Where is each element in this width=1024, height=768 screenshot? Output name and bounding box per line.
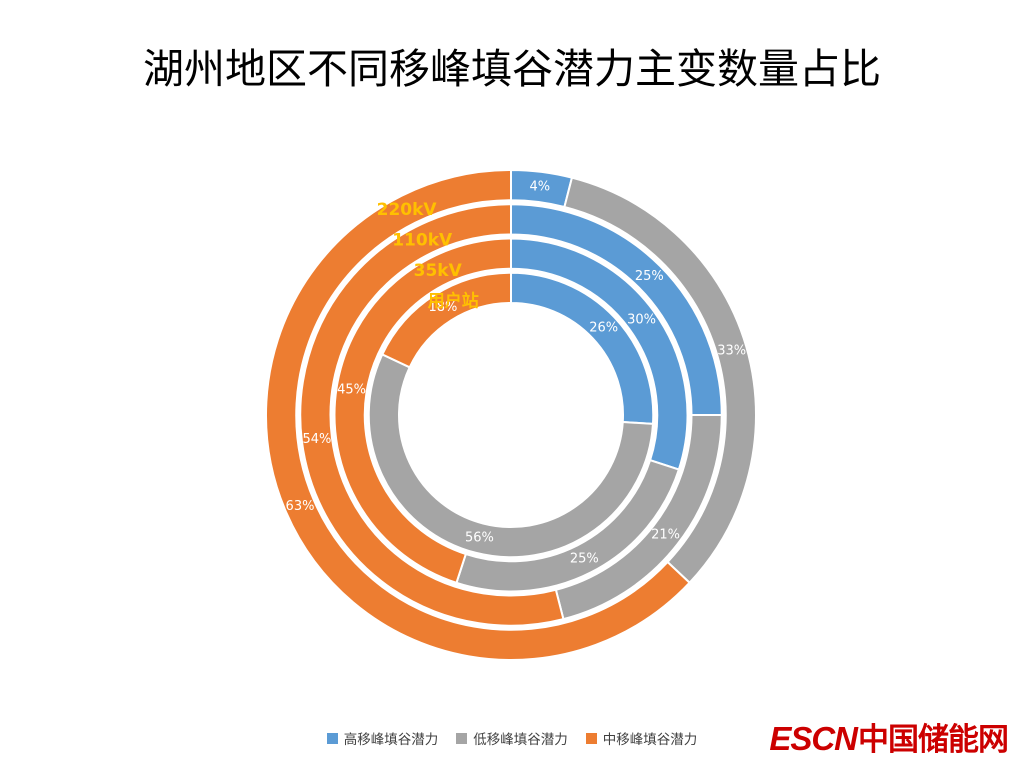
legend-item[interactable]: 中移峰填谷潜力 (586, 728, 698, 748)
slice-value-label: 30% (627, 313, 656, 328)
legend-label: 高移峰填谷潜力 (344, 728, 439, 748)
ring-category-label: 35kV (414, 261, 463, 281)
slice-value-label: 33% (717, 343, 746, 358)
brand-logo: ESCN 中国储能网 (769, 714, 1008, 759)
ring-category-label: 用户站 (428, 291, 479, 312)
legend-label: 中移峰填谷潜力 (603, 728, 698, 748)
slice-value-label: 25% (570, 551, 599, 566)
slide-canvas: 湖州地区不同移峰填谷潜力主变数量占比 4%33%63%25%21%54%30%2… (0, 0, 1024, 768)
brand-logo-latin: ESCN (769, 720, 857, 758)
slice-value-label: 25% (635, 269, 664, 284)
slice-value-label: 54% (302, 432, 331, 447)
brand-logo-chinese: 中国储能网 (858, 714, 1008, 759)
ring-category-label: 110kV (392, 231, 453, 251)
slice-value-label: 56% (465, 531, 494, 546)
legend-swatch-high (327, 733, 338, 744)
donut-chart: 4%33%63%25%21%54%30%25%45%26%56%18% 220k… (0, 120, 1024, 700)
slice-value-label: 4% (529, 179, 550, 194)
slice-value-label: 26% (589, 321, 618, 336)
legend-swatch-mid (586, 733, 597, 744)
legend-swatch-low (456, 733, 467, 744)
legend-label: 低移峰填谷潜力 (473, 728, 568, 748)
slice-value-label: 45% (337, 382, 366, 397)
legend-item[interactable]: 高移峰填谷潜力 (327, 728, 439, 748)
rings-group (266, 170, 756, 660)
slice-value-label: 21% (651, 527, 680, 542)
ring-category-label: 220kV (377, 200, 438, 220)
donut-chart-svg: 4%33%63%25%21%54%30%25%45%26%56%18% 220k… (0, 120, 1024, 700)
page-title: 湖州地区不同移峰填谷潜力主变数量占比 (0, 46, 1024, 93)
legend-item[interactable]: 低移峰填谷潜力 (456, 728, 568, 748)
slice-value-label: 63% (286, 499, 315, 514)
